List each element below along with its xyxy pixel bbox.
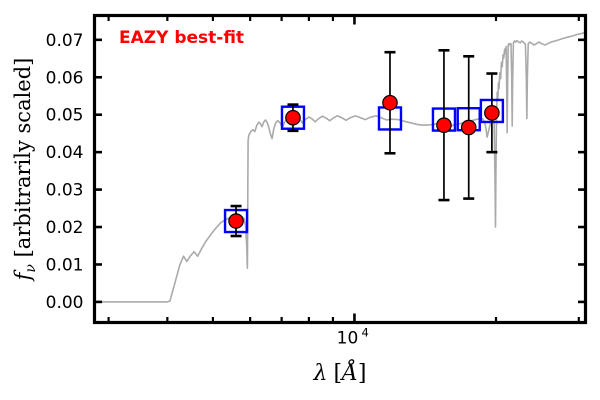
xaxis-label-text: λ[Å] <box>312 358 366 386</box>
plot-canvas: 0.000.010.020.030.040.050.060.07 10 4 λ[… <box>0 0 600 400</box>
ytick-label: 0.06 <box>46 68 84 88</box>
angstrom-symbol: Å <box>339 358 358 386</box>
ytick-label: 0.05 <box>46 106 84 126</box>
observed-photometry-point <box>485 106 499 120</box>
ytick-label: 0.00 <box>46 293 84 313</box>
ytick-label: 0.01 <box>46 255 84 275</box>
xaxis-label: λ[Å] <box>312 358 366 386</box>
eazy-best-fit-annotation: EAZY best-fit <box>119 28 244 48</box>
xtick-major-exponent: 4 <box>361 326 368 340</box>
ytick-label: 0.02 <box>46 218 84 238</box>
xaxis-unit: [ <box>333 361 342 386</box>
observed-photometry-point <box>383 96 397 110</box>
ytick-label: 0.07 <box>46 31 84 51</box>
observed-photometry-point <box>462 120 476 134</box>
yaxis-label: fν [arbitrarily scaled] <box>11 58 39 283</box>
observed-photometry-point <box>437 118 451 132</box>
ytick-label: 0.03 <box>46 181 84 201</box>
sed-figure: 0.000.010.020.030.040.050.060.07 10 4 λ[… <box>0 0 600 400</box>
observed-photometry-point <box>286 111 300 125</box>
lambda-symbol: λ <box>312 361 327 386</box>
xaxis-unit-close: ] <box>358 361 367 386</box>
xtick-major-mantissa: 10 <box>337 329 359 349</box>
ytick-label: 0.04 <box>46 143 84 163</box>
observed-photometry-point <box>229 214 243 228</box>
yaxis-unit-text: [arbitrarily scaled] <box>11 58 35 264</box>
yaxis-label-text: fν [arbitrarily scaled] <box>11 58 39 283</box>
